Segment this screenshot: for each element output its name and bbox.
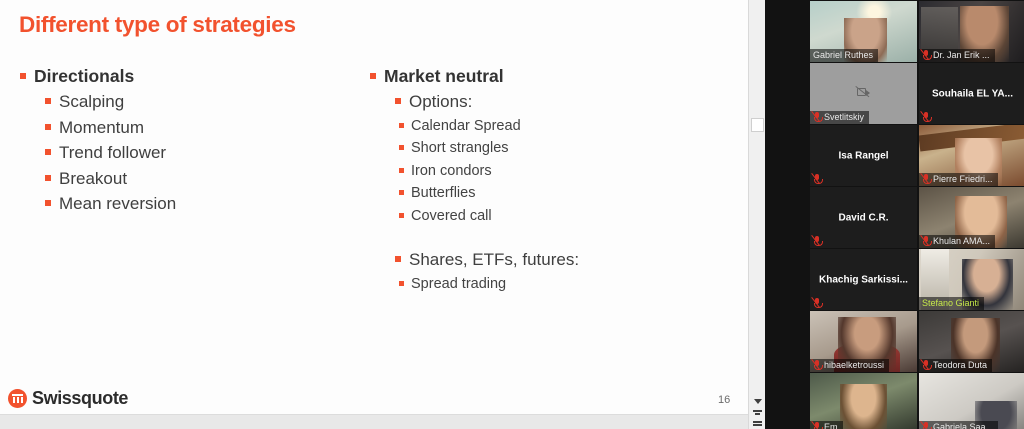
participant-name-label: Dr. Jan Erik ... (933, 50, 990, 60)
participant-name-bar: Pierre Friedri... (919, 173, 998, 186)
bullet-list-level1: Directionals (18, 64, 348, 88)
participant-name-label: Gabriel Ruthes (813, 50, 873, 60)
participant-name-label: Svetlitskiy (824, 112, 864, 122)
participant-name-centered: David C.R. (810, 212, 917, 223)
participant-tile[interactable]: Gabriela Saa... (919, 373, 1024, 429)
participant-name-label: hibaelketroussi (824, 360, 884, 370)
participant-name-bar: Gabriel Ruthes (810, 49, 878, 62)
participant-tile[interactable]: Khulan AMA... (919, 187, 1024, 248)
bullet-marker-icon (399, 145, 404, 150)
bullet-marker-icon (45, 175, 51, 181)
list-item: Butterflies (398, 182, 728, 205)
bullet-marker-icon (45, 98, 51, 104)
list-item-label: Short strangles (411, 140, 509, 156)
list-item: Market neutral (368, 64, 728, 88)
microphone-muted-icon (813, 298, 821, 308)
microphone-muted-icon (813, 174, 821, 184)
participant-tile[interactable]: Gabriel Ruthes (810, 1, 917, 62)
camera-off-icon (857, 87, 871, 97)
bullet-marker-icon (399, 168, 404, 173)
list-item: Directionals (18, 64, 348, 88)
list-item-label: Spread trading (411, 276, 506, 292)
logo-wordmark: Swissquote (32, 388, 128, 409)
microphone-muted-icon (922, 50, 930, 60)
list-item: Options: (394, 89, 728, 115)
participant-name-bar (919, 111, 935, 124)
microphone-muted-icon (922, 360, 930, 370)
participant-name-label: Pierre Friedri... (933, 174, 993, 184)
participant-name-bar: Khulan AMA... (919, 235, 995, 248)
list-item-label: Breakout (59, 169, 127, 188)
bullet-marker-icon (370, 73, 376, 79)
list-item-label: Directionals (34, 66, 134, 86)
slide-bottom-strip (0, 414, 748, 429)
bullet-marker-icon (395, 256, 401, 262)
fit-page-icon[interactable] (753, 409, 762, 416)
list-item: Short strangles (398, 137, 728, 160)
participant-name-bar: hibaelketroussi (810, 359, 889, 372)
participant-name-bar: Teodora Duta (919, 359, 992, 372)
participant-name-bar: Svetlitskiy (810, 111, 869, 124)
microphone-muted-icon (813, 422, 821, 429)
list-item: Momentum (44, 115, 348, 141)
bullet-list-level2: Shares, ETFs, futures: (394, 247, 728, 273)
scroll-controls[interactable] (749, 398, 766, 427)
participant-tile[interactable]: Souhaila EL YA... (919, 63, 1024, 124)
slide-canvas: Different type of strategies Directional… (0, 0, 748, 414)
list-item: Mean reversion (44, 191, 348, 217)
participant-tile[interactable]: Khachig Sarkissi... (810, 249, 917, 310)
list-item-label: Butterflies (411, 185, 475, 201)
bullet-marker-icon (395, 98, 401, 104)
list-item-label: Shares, ETFs, futures: (409, 250, 579, 269)
list-item-label: Trend follower (59, 143, 166, 162)
participant-tile-grid: Gabriel RuthesDr. Jan Erik ...Svetlitski… (810, 0, 1024, 429)
microphone-muted-icon (813, 236, 821, 246)
page-title: Different type of strategies (19, 12, 296, 38)
participant-name-centered: Isa Rangel (810, 150, 917, 161)
bullet-list-level3: Calendar Spread Short strangles Iron con… (398, 115, 728, 228)
participant-name-bar (810, 297, 826, 310)
list-item: Iron condors (398, 160, 728, 183)
participant-name-bar: Em (810, 421, 843, 429)
bullet-list-level2: Options: (394, 89, 728, 115)
microphone-muted-icon (813, 112, 821, 122)
participant-name-bar: Gabriela Saa... (919, 421, 998, 429)
bullet-column-left: Directionals Scalping Momentum Trend fol… (18, 64, 348, 217)
list-item-label: Momentum (59, 118, 144, 137)
participant-tile[interactable]: Teodora Duta (919, 311, 1024, 372)
slide-scrollbar[interactable] (748, 0, 765, 429)
list-item-label: Market neutral (384, 66, 504, 86)
list-item-label: Covered call (411, 208, 492, 224)
participant-tile[interactable]: Em (810, 373, 917, 429)
participant-tile[interactable]: Stefano Gianti (919, 249, 1024, 310)
list-spacer (368, 227, 728, 247)
participant-name-label: Em (824, 422, 838, 429)
bullet-marker-icon (45, 200, 51, 206)
slide-page-number: 16 (718, 394, 730, 406)
participant-name-centered: Souhaila EL YA... (919, 88, 1024, 99)
bullet-column-right: Market neutral Options: Calendar Spread (368, 64, 728, 295)
scroll-down-arrow-icon[interactable] (753, 398, 762, 405)
bullet-marker-icon (399, 190, 404, 195)
participant-tile[interactable]: Pierre Friedri... (919, 125, 1024, 186)
microphone-muted-icon (922, 422, 930, 429)
participant-name-bar (810, 173, 826, 186)
participant-name-bar (810, 235, 826, 248)
bullet-list-level2: Scalping Momentum Trend follower Breakou… (44, 89, 348, 217)
participant-tile[interactable]: Dr. Jan Erik ... (919, 1, 1024, 62)
participant-name-label: Stefano Gianti (922, 298, 979, 308)
swissquote-logo: Swissquote (8, 388, 128, 409)
list-item-label: Iron condors (411, 163, 492, 179)
list-item-label: Mean reversion (59, 194, 176, 213)
shared-slide-area[interactable]: Different type of strategies Directional… (0, 0, 748, 429)
participant-name-label: Khulan AMA... (933, 236, 990, 246)
video-participants-panel[interactable]: Gabriel RuthesDr. Jan Erik ...Svetlitski… (765, 0, 1024, 429)
bullet-marker-icon (45, 149, 51, 155)
bullet-marker-icon (20, 73, 26, 79)
bullet-list-level1: Market neutral (368, 64, 728, 88)
microphone-muted-icon (813, 360, 821, 370)
list-item: Shares, ETFs, futures: (394, 247, 728, 273)
list-item: Spread trading (398, 273, 728, 296)
participant-tile[interactable]: Svetlitskiy (810, 63, 917, 124)
participant-tile[interactable]: David C.R. (810, 187, 917, 248)
bullet-marker-icon (45, 124, 51, 130)
bullet-marker-icon (399, 123, 404, 128)
participant-tile[interactable]: hibaelketroussi (810, 311, 917, 372)
bullet-marker-icon (399, 213, 404, 218)
screen-share-window: Different type of strategies Directional… (0, 0, 1024, 429)
participant-name-label: Teodora Duta (933, 360, 987, 370)
list-item: Scalping (44, 89, 348, 115)
next-page-icon[interactable] (753, 420, 762, 427)
list-item-label: Options: (409, 92, 472, 111)
list-item: Calendar Spread (398, 115, 728, 138)
list-item-label: Scalping (59, 92, 124, 111)
list-item: Covered call (398, 205, 728, 228)
microphone-muted-icon (922, 174, 930, 184)
participant-name-centered: Khachig Sarkissi... (810, 274, 917, 285)
microphone-muted-icon (922, 236, 930, 246)
list-item-label: Calendar Spread (411, 118, 521, 134)
list-item: Trend follower (44, 140, 348, 166)
participant-name-label: Gabriela Saa... (933, 422, 993, 429)
participant-name-bar: Stefano Gianti (919, 297, 984, 310)
bullet-marker-icon (399, 281, 404, 286)
scrollbar-thumb[interactable] (751, 118, 764, 132)
participant-tile[interactable]: Isa Rangel (810, 125, 917, 186)
bullet-list-level3: Spread trading (398, 273, 728, 296)
swissquote-mark-icon (8, 389, 27, 408)
participant-name-bar: Dr. Jan Erik ... (919, 49, 995, 62)
microphone-muted-icon (922, 112, 930, 122)
list-item: Breakout (44, 166, 348, 192)
